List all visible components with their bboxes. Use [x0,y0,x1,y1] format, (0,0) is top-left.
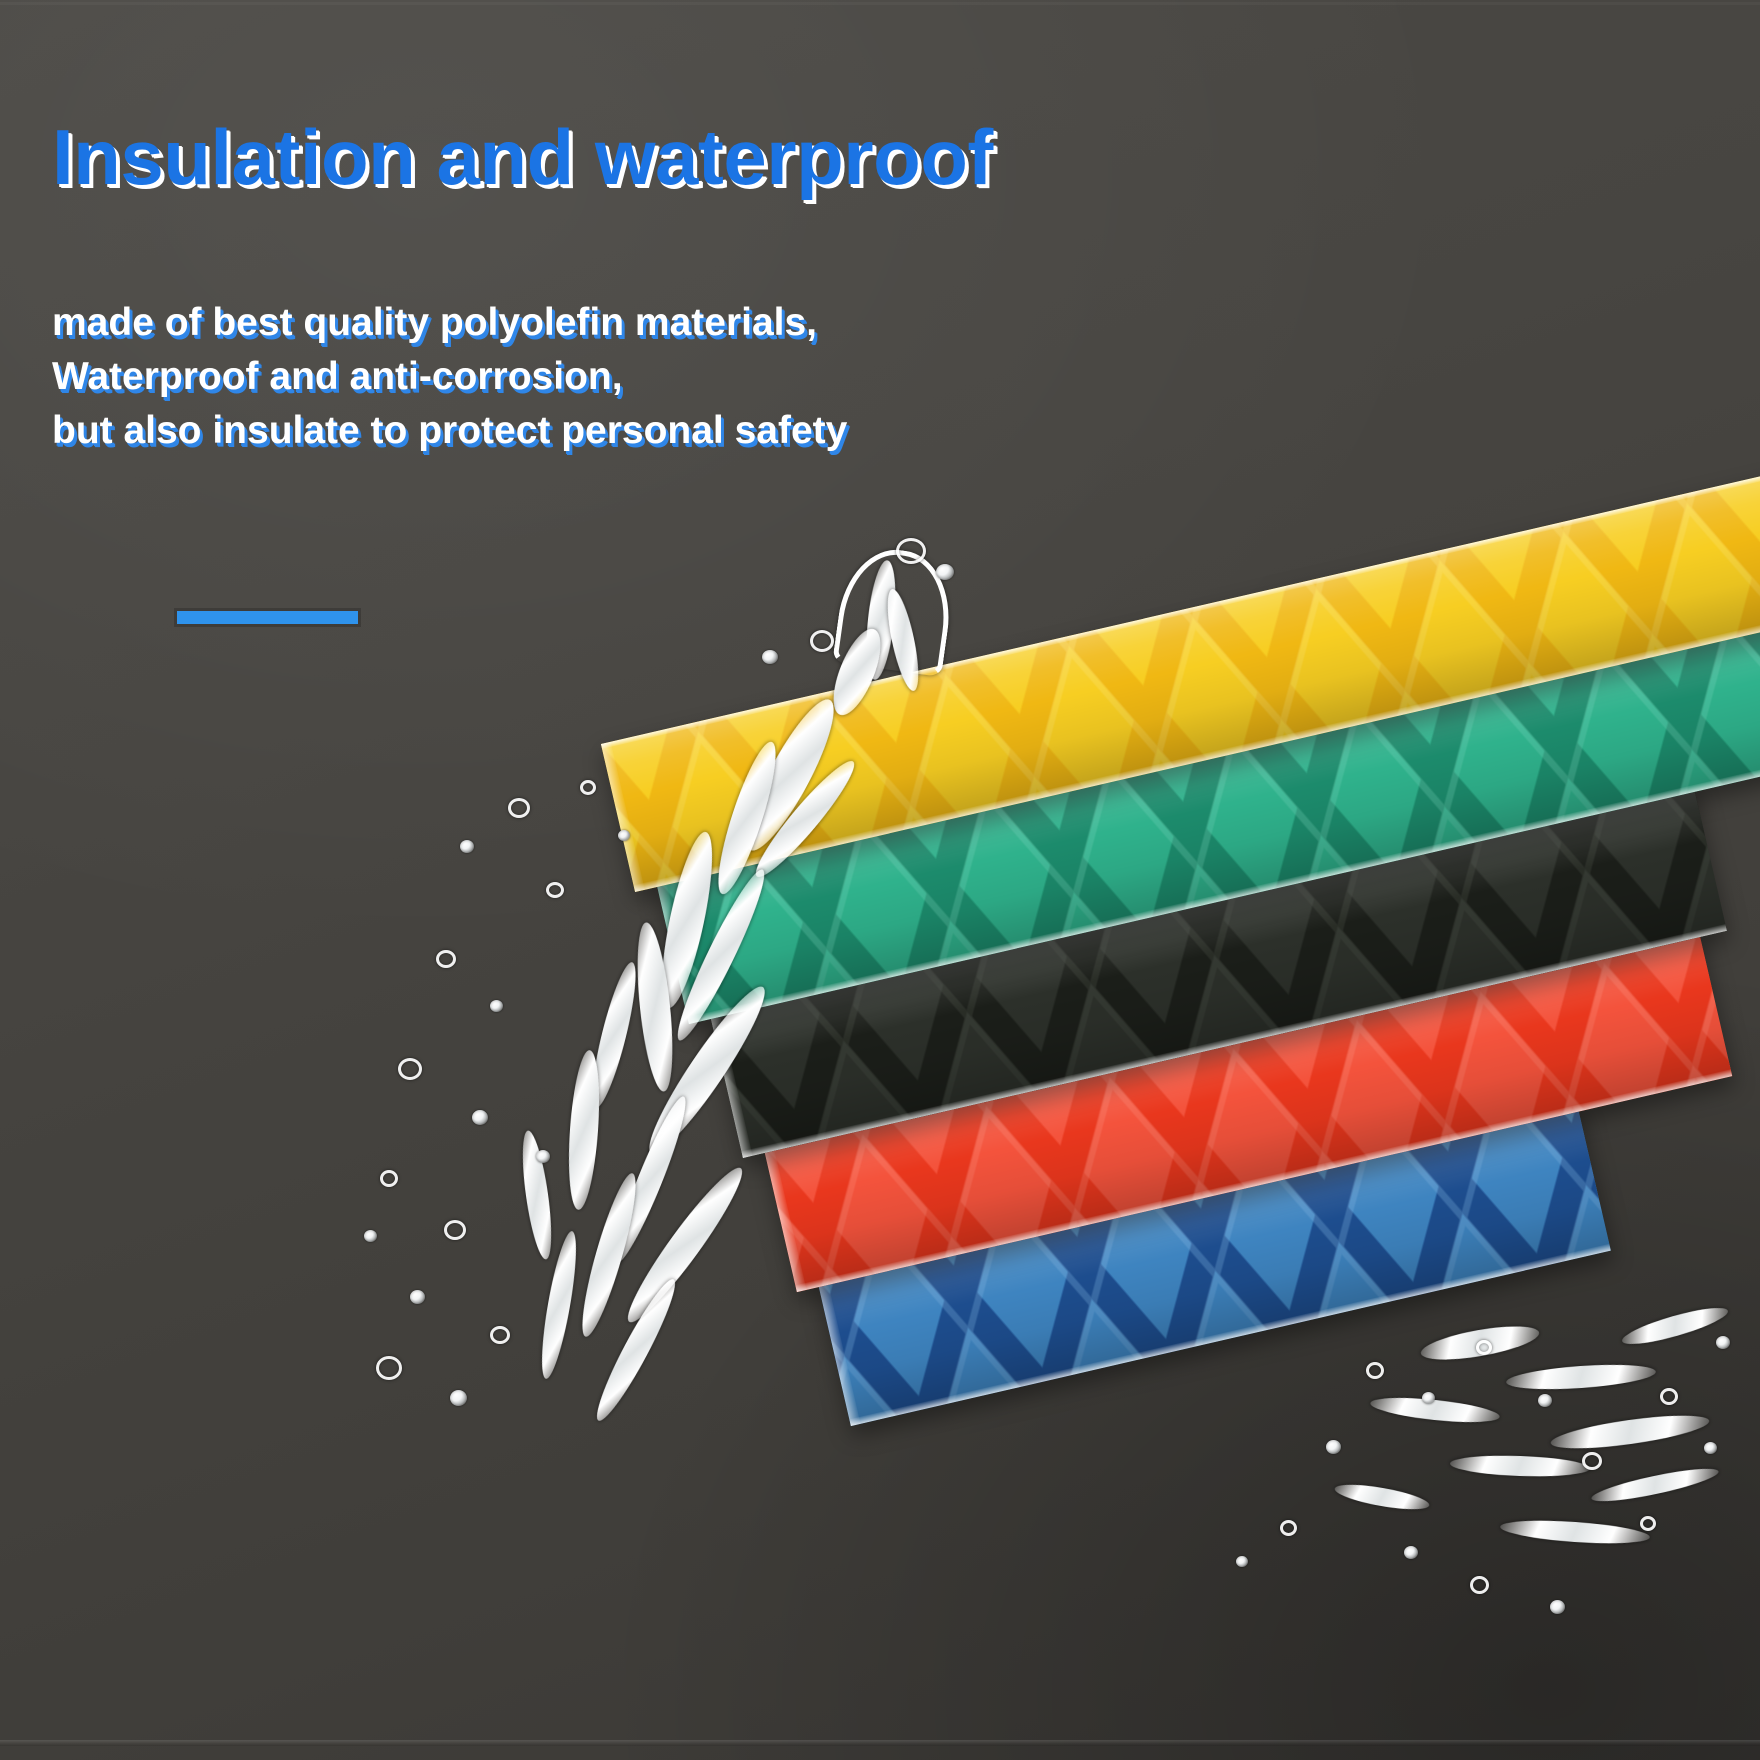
description-text: made of best quality polyolefin material… [52,296,847,458]
page-title: Insulation and waterproof [52,112,993,203]
description-line-3: but also insulate to protect personal sa… [52,404,847,458]
product-tube-stack [0,0,1760,1760]
description-line-2: Waterproof and anti-corrosion, [52,350,847,404]
accent-rule [177,611,358,624]
banner-stage: Insulation and waterproof made of best q… [0,0,1760,1760]
description-line-1: made of best quality polyolefin material… [52,296,847,350]
